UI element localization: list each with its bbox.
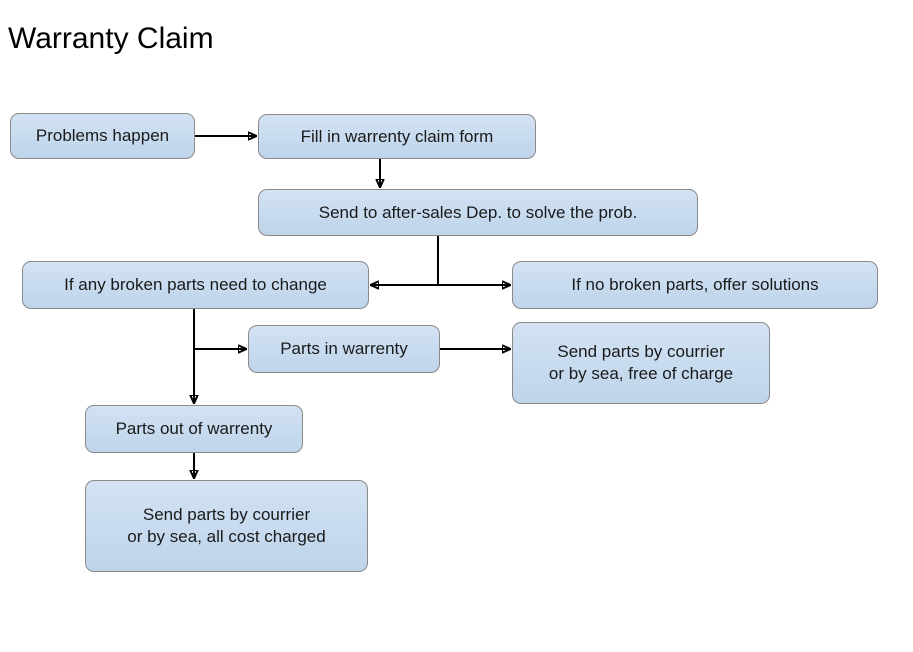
node-send-parts-free-of-charge[interactable]: Send parts by courrier or by sea, free o… <box>512 322 770 404</box>
node-if-no-broken-parts[interactable]: If no broken parts, offer solutions <box>512 261 878 309</box>
node-send-to-after-sales-dep[interactable]: Send to after-sales Dep. to solve the pr… <box>258 189 698 236</box>
node-problems-happen[interactable]: Problems happen <box>10 113 195 159</box>
flowchart-canvas: Warranty Claim Problems happen Fill in w… <box>0 0 913 652</box>
node-if-any-broken-parts[interactable]: If any broken parts need to change <box>22 261 369 309</box>
node-send-parts-all-cost-charged[interactable]: Send parts by courrier or by sea, all co… <box>85 480 368 572</box>
node-fill-in-warranty-claim-form[interactable]: Fill in warrenty claim form <box>258 114 536 159</box>
node-parts-out-of-warranty[interactable]: Parts out of warrenty <box>85 405 303 453</box>
page-title: Warranty Claim <box>8 22 214 56</box>
node-parts-in-warranty[interactable]: Parts in warrenty <box>248 325 440 373</box>
